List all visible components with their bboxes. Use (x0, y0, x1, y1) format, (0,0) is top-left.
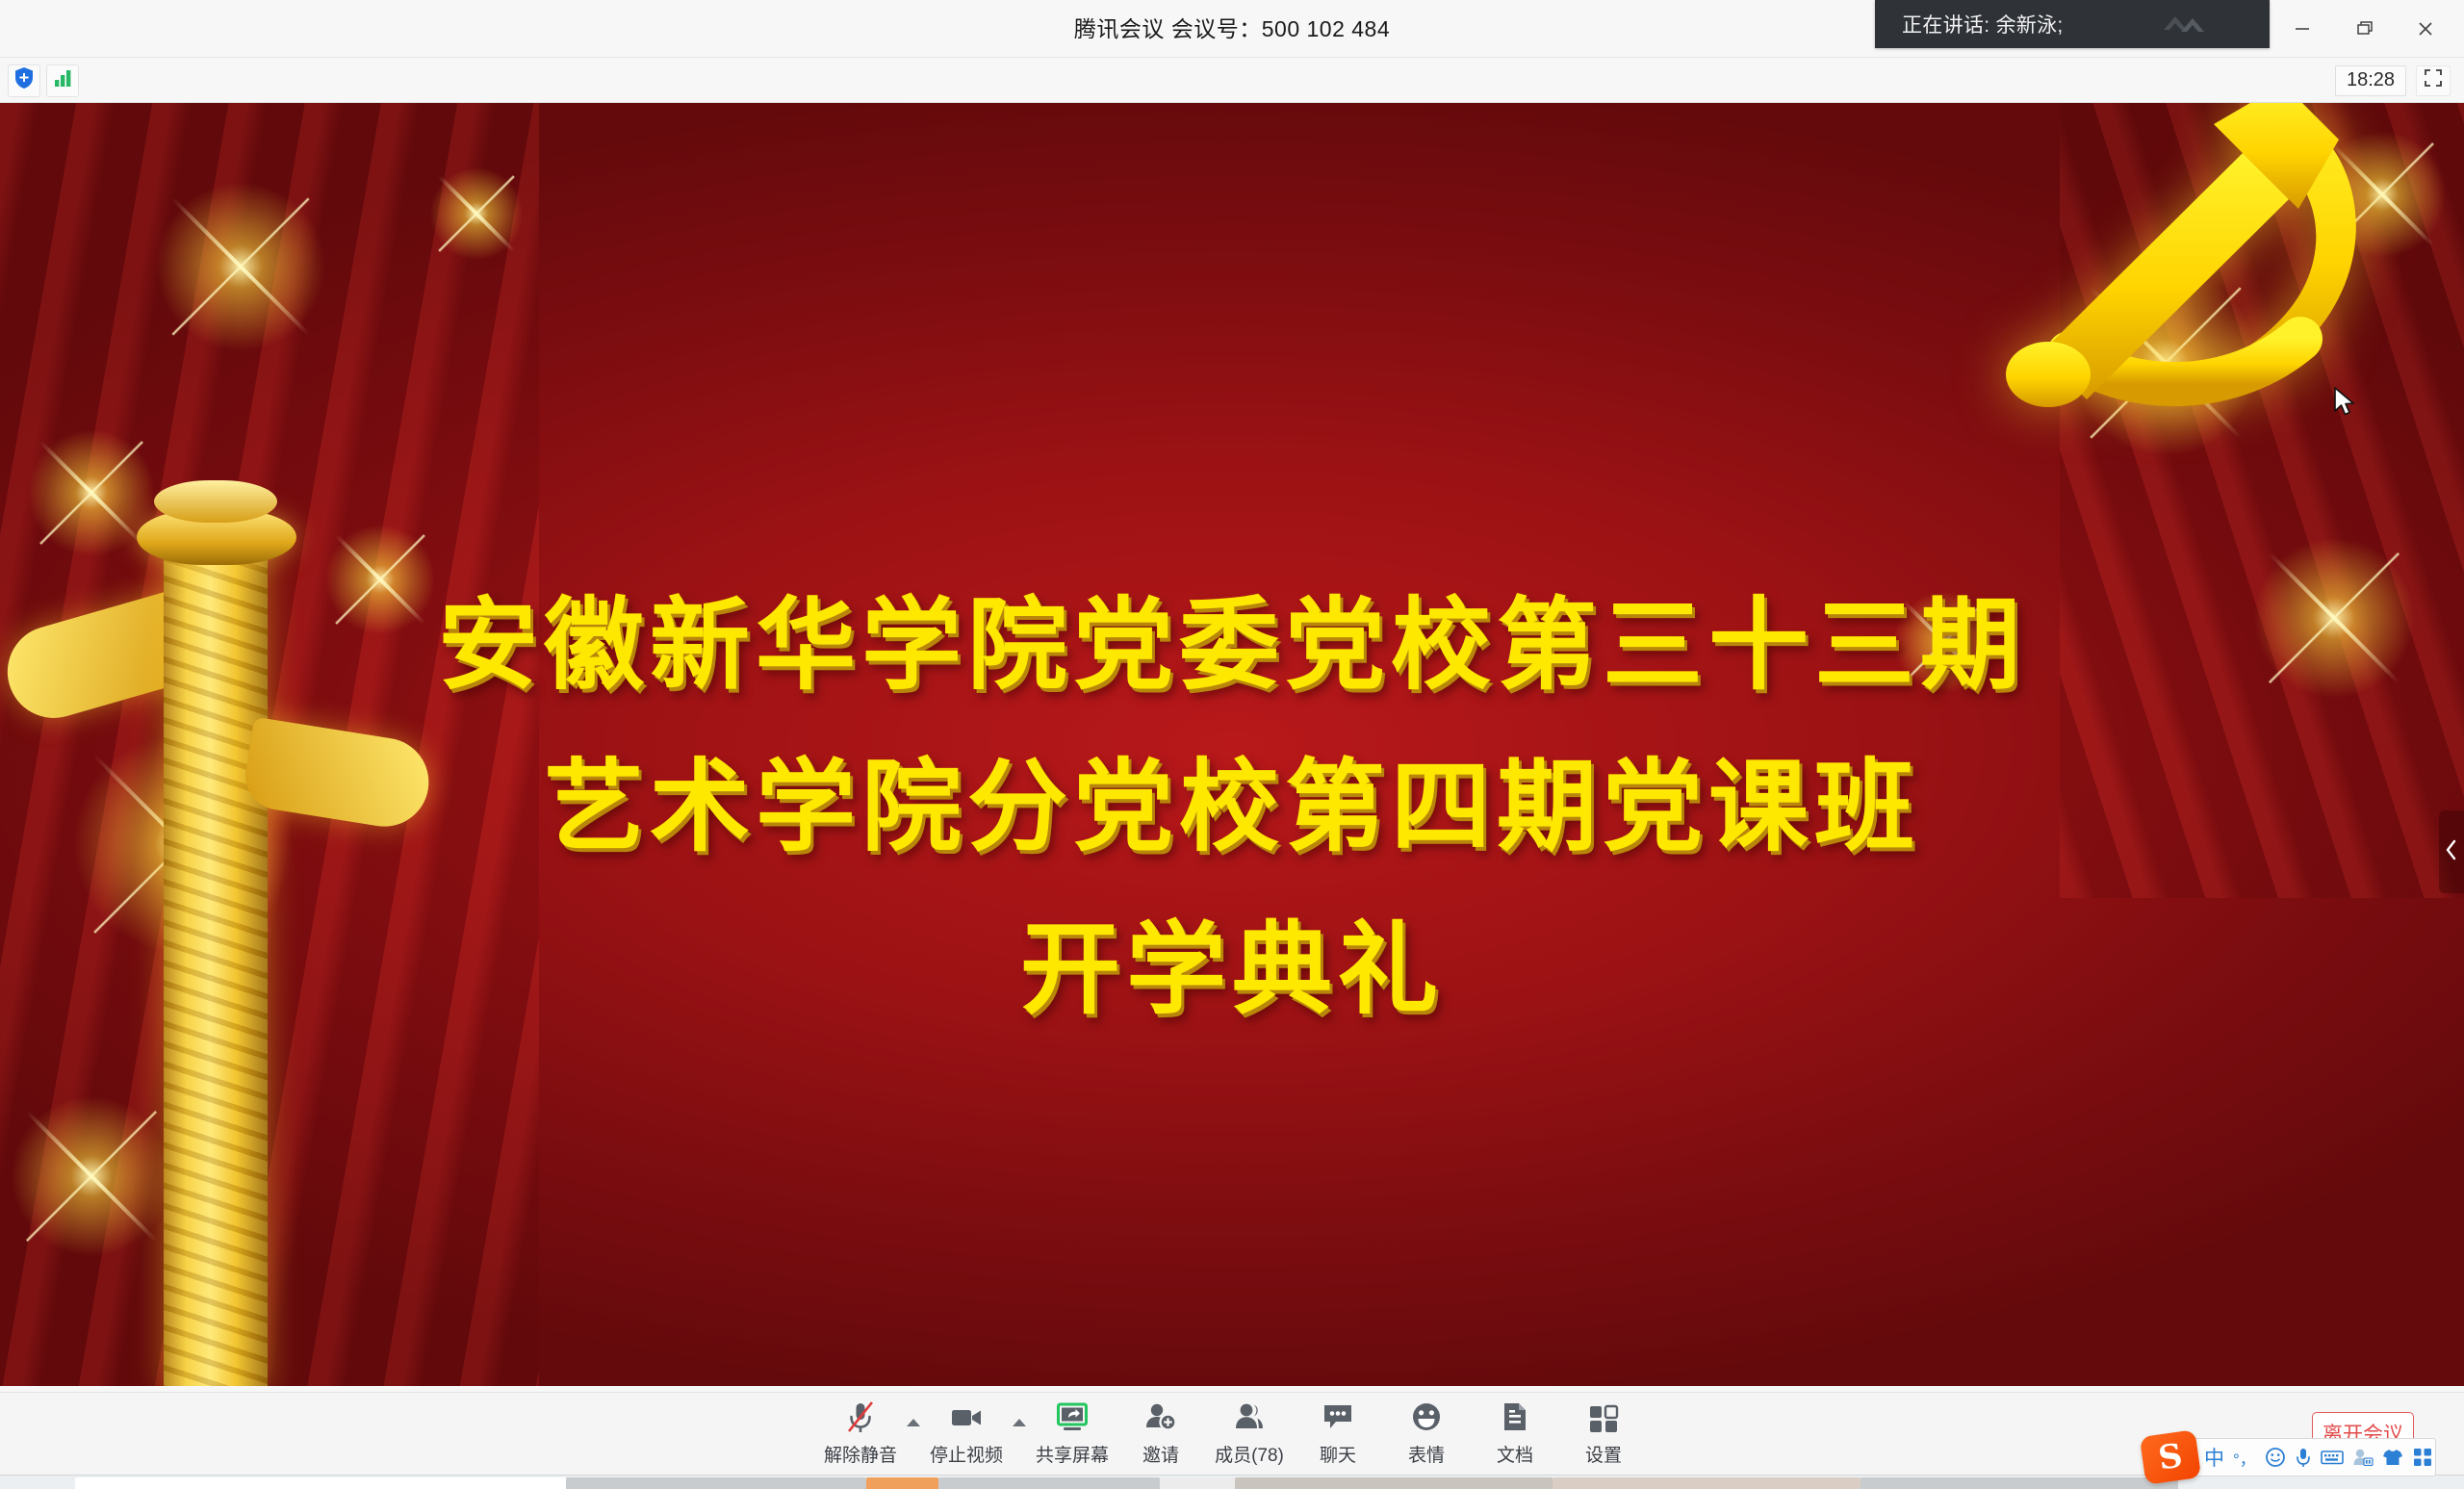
taskbar-window[interactable] (75, 1477, 566, 1489)
invite-label: 邀请 (1142, 1441, 1179, 1467)
ime-skin-icon[interactable] (2382, 1448, 2403, 1467)
participants-icon (1232, 1400, 1267, 1435)
title-bar: 腾讯会议 会议号：500 102 484 (0, 0, 2464, 58)
maximize-icon (2353, 18, 2374, 39)
settings-label: 设置 (1585, 1441, 1622, 1467)
slide-title-line-1: 安徽新华学院党委党校第三十三期 (438, 592, 2026, 698)
ime-toolbox-grid-icon[interactable] (2412, 1447, 2433, 1468)
sogou-ime-toolbar[interactable]: S 中 °， (2147, 1438, 2436, 1476)
settings-button[interactable]: 设置 (1559, 1400, 1648, 1470)
settings-grid-icon (1587, 1400, 1620, 1435)
emoji-button[interactable]: 表情 (1382, 1400, 1471, 1470)
chat-label: 聊天 (1320, 1441, 1356, 1467)
fullscreen-button[interactable] (2416, 65, 2451, 96)
taskbar-window[interactable] (566, 1477, 866, 1489)
ime-voice-input-icon[interactable] (2295, 1447, 2312, 1468)
ime-chinese-mode-icon[interactable]: 中 (2204, 1443, 2224, 1472)
tencent-meeting-window: 腾讯会议 会议号：500 102 484 (0, 0, 2464, 1489)
video-toggle-label: 停止视频 (930, 1441, 1003, 1467)
taskbar-window[interactable] (938, 1477, 1160, 1489)
maximize-button[interactable] (2333, 0, 2395, 58)
emoji-label: 表情 (1408, 1441, 1445, 1467)
security-button[interactable] (8, 64, 40, 97)
chat-button[interactable]: 聊天 (1294, 1400, 1382, 1470)
slide-title-line-2: 艺术学院分党校第四期党课班 (544, 754, 1920, 860)
secondary-toolbar-right: 18:28 (2335, 58, 2451, 103)
taskbar-window[interactable] (1861, 1477, 2178, 1489)
ime-emoji-icon[interactable] (2265, 1447, 2286, 1468)
invite-person-plus-icon (1143, 1400, 1178, 1435)
close-button[interactable] (2395, 0, 2456, 58)
ime-user-icon[interactable] (2352, 1448, 2374, 1467)
active-speaker-text: 正在讲话: 余新泳; (1902, 10, 2064, 39)
invite-button[interactable]: 邀请 (1116, 1400, 1205, 1470)
video-camera-icon (948, 1400, 985, 1435)
share-screen-button[interactable]: 共享屏幕 (1028, 1400, 1116, 1470)
os-taskbar[interactable] (0, 1475, 2464, 1489)
taskbar-window[interactable] (1235, 1477, 1553, 1489)
taskbar-window[interactable] (1160, 1477, 1235, 1489)
document-label: 文档 (1497, 1441, 1533, 1467)
tencent-meeting-logo-icon (2146, 9, 2225, 39)
mute-toggle-label: 解除静音 (824, 1441, 897, 1467)
sogou-logo-icon[interactable]: S (2140, 1429, 2201, 1485)
chevron-left-icon (2444, 837, 2459, 867)
document-icon (1499, 1400, 1531, 1435)
audio-options-caret[interactable] (905, 1400, 922, 1470)
window-controls (2271, 0, 2456, 58)
document-button[interactable]: 文档 (1471, 1400, 1559, 1470)
share-screen-label: 共享屏幕 (1036, 1441, 1109, 1467)
minimize-icon (2292, 18, 2313, 39)
fullscreen-icon (2423, 67, 2444, 93)
video-toggle-button[interactable]: 停止视频 (922, 1400, 1011, 1470)
network-status-button[interactable] (46, 64, 79, 97)
secondary-toolbar-left (8, 58, 79, 103)
collapse-panel-handle[interactable] (2439, 810, 2464, 893)
share-screen-icon (1055, 1400, 1090, 1435)
shared-screen-stage[interactable]: 安徽新华学院党委党校第三十三期 艺术学院分党校第四期党课班 开学典礼 (0, 103, 2464, 1386)
taskbar-window[interactable] (1553, 1477, 1861, 1489)
secondary-toolbar: 18:28 (0, 58, 2464, 103)
control-buttons-group: 解除静音 停止视频 (816, 1393, 1648, 1476)
microphone-muted-icon (844, 1400, 877, 1435)
active-speaker-banner: 正在讲话: 余新泳; (1875, 0, 2270, 48)
signal-bars-icon (52, 67, 73, 93)
presentation-slide: 安徽新华学院党委党校第三十三期 艺术学院分党校第四期党课班 开学典礼 (0, 103, 2464, 1386)
emoji-smiley-icon (1409, 1400, 1444, 1435)
ime-soft-keyboard-icon[interactable] (2321, 1449, 2344, 1466)
participants-button[interactable]: 成员(78) (1205, 1400, 1294, 1470)
mute-toggle-button[interactable]: 解除静音 (816, 1400, 905, 1470)
chevron-up-icon (1012, 1418, 1027, 1427)
taskbar-window[interactable] (866, 1477, 938, 1489)
chevron-up-icon (906, 1418, 921, 1427)
meeting-control-bar: 解除静音 停止视频 (0, 1392, 2464, 1475)
shield-plus-icon (13, 66, 35, 94)
video-options-caret[interactable] (1011, 1400, 1028, 1470)
chat-bubble-icon (1321, 1400, 1355, 1435)
slide-title-block: 安徽新华学院党委党校第三十三期 艺术学院分党校第四期党课班 开学典礼 (0, 103, 2464, 1386)
ime-punctuation-mode-icon[interactable]: °， (2233, 1446, 2256, 1470)
mouse-cursor-icon (2333, 386, 2358, 424)
meeting-clock: 18:28 (2335, 65, 2406, 96)
close-icon (2415, 18, 2436, 39)
slide-title-line-3: 开学典礼 (1020, 916, 1444, 1022)
participants-label: 成员(78) (1215, 1441, 1284, 1467)
minimize-button[interactable] (2271, 0, 2333, 58)
